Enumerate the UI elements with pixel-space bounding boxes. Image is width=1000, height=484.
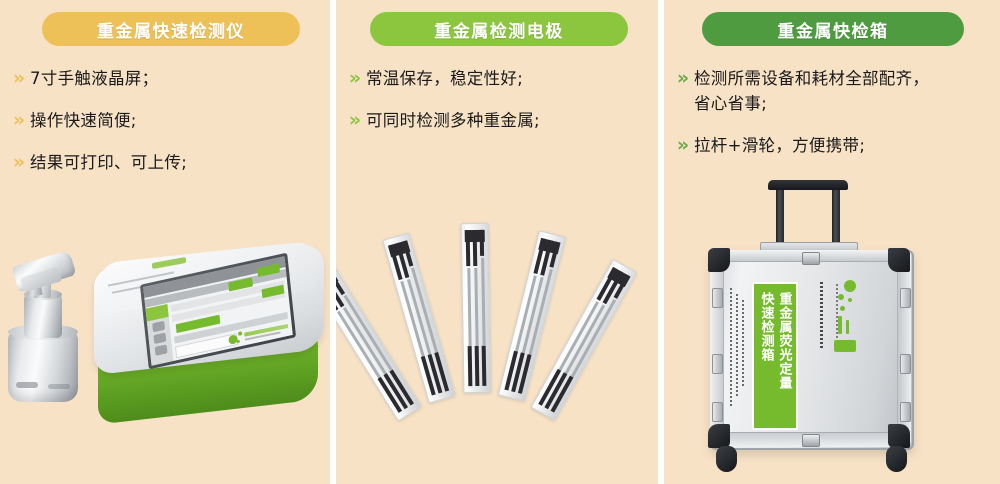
logo-badge <box>834 340 856 352</box>
case-hinge <box>712 288 723 308</box>
electrode-trace <box>481 258 486 346</box>
bullet-text: 结果可打印、可上传; <box>30 150 187 175</box>
electrode-trace <box>467 268 471 346</box>
panel-title-rapid-analyzer: 重金属快速检测仪 <box>42 12 300 46</box>
chevron-right-icon: » <box>344 66 366 91</box>
bullet-list-rapid-analyzer: » 7寸手触液晶屏； » 操作快速简便; » 结果可打印、可上传; <box>8 66 320 192</box>
electrode-trace <box>343 307 387 375</box>
panel-rapid-analyzer: 重金属快速检测仪 » 7寸手触液晶屏； » 操作快速简便; » 结果可打印、可上… <box>0 0 330 484</box>
list-item: » 可同时检测多种重金属; <box>344 108 648 133</box>
bullet-text: 操作快速简便; <box>30 108 137 133</box>
case-hinge <box>900 354 911 374</box>
bullet-text: 7寸手触液晶屏； <box>30 66 158 91</box>
case-wheel <box>886 446 907 472</box>
case-info-line <box>736 294 738 398</box>
product-image-trolley-case: 重金属荧光定量 快速检测箱 <box>664 180 1000 484</box>
logo-dot <box>838 294 844 300</box>
logo-dot <box>848 298 852 302</box>
logo-dot <box>840 306 845 311</box>
electrode-top-contact <box>466 230 471 266</box>
case-product-label: 重金属荧光定量 快速检测箱 <box>752 282 798 430</box>
logo-dot <box>844 280 856 292</box>
list-item: » 常温保存，稳定性好; <box>344 66 648 91</box>
bullet-text: 常温保存，稳定性好; <box>366 66 523 91</box>
product-image-rapid-analyzer <box>0 252 330 484</box>
electrode-holder-base <box>8 330 78 402</box>
electrode-holder-slot <box>16 382 38 388</box>
product-feature-banner: 重金属快速检测仪 » 7寸手触液晶屏； » 操作快速简便; » 结果可打印、可上… <box>0 0 1000 484</box>
case-hinge <box>900 402 911 422</box>
chevron-right-icon: » <box>672 66 694 91</box>
list-item: » 结果可打印、可上传; <box>8 150 320 175</box>
electrode-holder-slot <box>48 384 70 389</box>
case-wheel <box>716 446 737 472</box>
list-item: » 检测所需设备和耗材全部配齐，省心省事; <box>672 66 990 116</box>
bullet-text: 可同时检测多种重金属; <box>366 108 540 133</box>
list-item: » 操作快速简便; <box>8 108 320 133</box>
case-label-line-1: 重金属荧光定量 <box>776 292 793 390</box>
electrode-bottom-contact <box>468 346 473 386</box>
panel-title-detection-electrode: 重金属检测电极 <box>370 12 628 46</box>
case-info-line <box>730 288 732 406</box>
trolley-handle-rod <box>832 184 840 246</box>
product-image-electrode-strips <box>336 215 658 484</box>
case-corner-protector <box>888 424 910 448</box>
case-corner-protector <box>708 248 730 272</box>
bullet-text: 检测所需设备和耗材全部配齐，省心省事; <box>694 66 944 116</box>
chevron-right-icon: » <box>8 150 30 175</box>
trolley-handle-rod <box>776 184 784 246</box>
electrode-top-contact <box>473 230 478 266</box>
electrode-holder-barrel <box>24 294 62 338</box>
electrode-bottom-contact <box>482 346 487 386</box>
electrode-top-contact <box>336 271 345 295</box>
case-hinge <box>712 402 723 422</box>
panel-rapid-test-case: 重金属快检箱 » 检测所需设备和耗材全部配齐，省心省事; » 拉杆+滑轮，方便携… <box>664 0 1000 484</box>
chevron-right-icon: » <box>8 108 30 133</box>
chevron-right-icon: » <box>672 133 694 158</box>
electrode-top-contact <box>480 230 484 256</box>
case-hinge <box>900 288 911 308</box>
list-item: » 7寸手触液晶屏； <box>8 66 320 91</box>
case-corner-protector <box>888 248 910 272</box>
list-item: » 拉杆+滑轮，方便携带; <box>672 133 990 158</box>
electrode-trace <box>474 268 478 346</box>
case-brand-logo <box>810 280 862 358</box>
case-company-info <box>730 288 750 414</box>
panel-title-rapid-test-case: 重金属快检箱 <box>702 12 964 46</box>
chevron-right-icon: » <box>344 108 366 133</box>
logo-bar <box>838 316 842 334</box>
case-latch[interactable] <box>802 434 820 447</box>
chevron-right-icon: » <box>8 66 30 91</box>
logo-company-text <box>820 282 823 348</box>
logo-bar <box>846 320 849 334</box>
electrode-trace <box>564 304 604 374</box>
electrode-bottom-contact <box>475 346 480 386</box>
case-label-line-2: 快速检测箱 <box>758 292 775 362</box>
logo-certification-text <box>836 284 838 338</box>
electrode-strip <box>461 223 492 393</box>
bullet-list-detection-electrode: » 常温保存，稳定性好; » 可同时检测多种重金属; <box>344 66 648 150</box>
case-latch[interactable] <box>802 252 820 265</box>
case-corner-protector <box>708 424 730 448</box>
panel-detection-electrode: 重金属检测电极 » 常温保存，稳定性好; » 可同时检测多种重金属; <box>336 0 658 484</box>
case-info-line <box>742 300 744 388</box>
case-hinge <box>712 354 723 374</box>
bullet-text: 拉杆+滑轮，方便携带; <box>694 133 865 158</box>
bullet-list-rapid-test-case: » 检测所需设备和耗材全部配齐，省心省事; » 拉杆+滑轮，方便携带; <box>672 66 990 175</box>
trolley-handle-grip <box>768 180 848 190</box>
